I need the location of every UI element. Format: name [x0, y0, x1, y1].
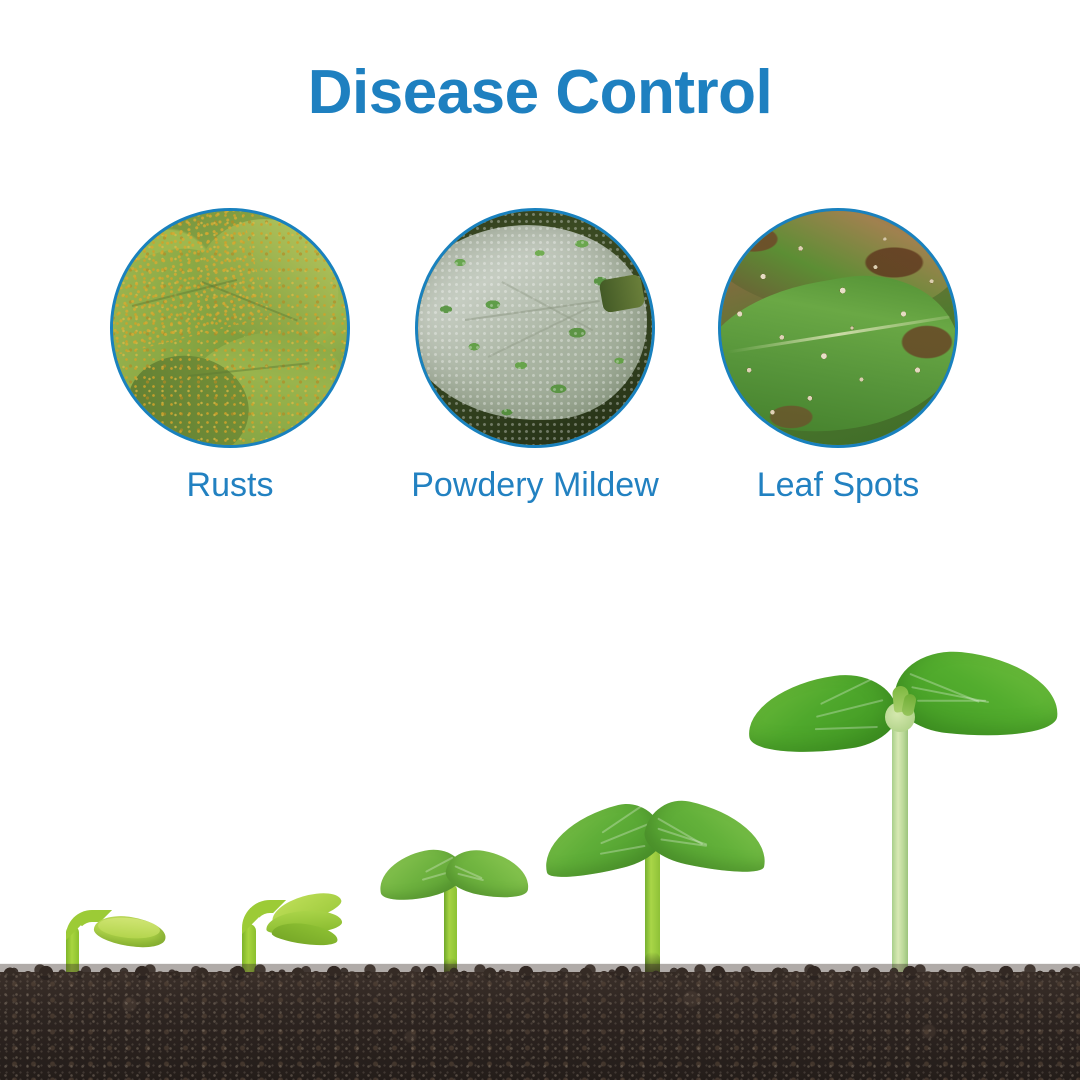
powdery-mildew-leaf-photo	[418, 211, 652, 445]
poster-canvas: Disease Control Rusts	[0, 0, 1080, 1080]
leaf-spot-photo	[721, 211, 955, 445]
leaf-spots-image-circle	[718, 208, 958, 448]
disease-label-leaf-spots: Leaf Spots	[678, 466, 998, 505]
rust-leaf-photo	[113, 211, 347, 445]
rust-image-circle	[110, 208, 350, 448]
disease-label-rusts: Rusts	[70, 466, 390, 505]
soil-bed	[0, 972, 1080, 1080]
page-title: Disease Control	[0, 62, 1080, 124]
seedling-stage-5	[735, 654, 1065, 984]
powdery-mildew-image-circle	[415, 208, 655, 448]
plant-growth-scene	[0, 620, 1080, 1080]
disease-label-powdery-mildew: Powdery Mildew	[375, 466, 695, 505]
